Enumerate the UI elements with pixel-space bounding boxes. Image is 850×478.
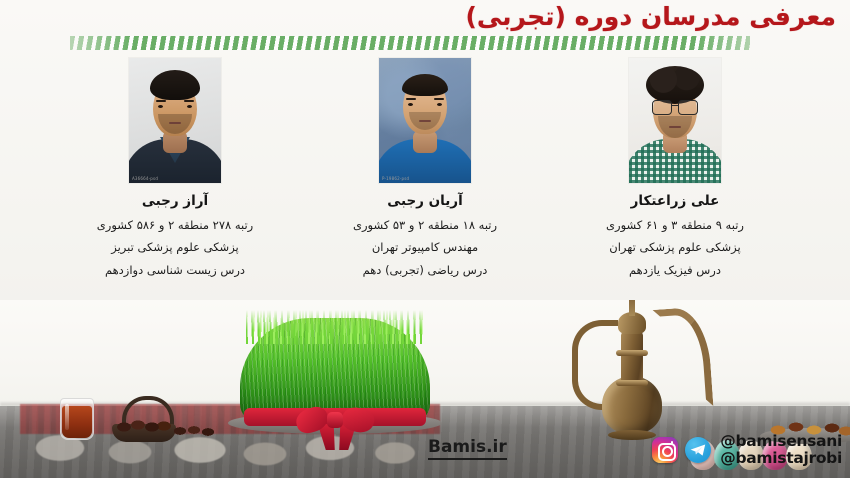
- dates-basket: [112, 396, 176, 442]
- instructor-rank: رتبه ۱۸ منطقه ۲ و ۵۳ کشوری: [353, 218, 497, 234]
- eyeglasses-icon: [652, 100, 698, 113]
- divider-fade-overlay: [70, 36, 750, 50]
- ribbon-bow: [296, 406, 374, 440]
- instructor-course: درس زیست شناسی دوازدهم: [105, 263, 245, 279]
- instructor-card-list: A36664-psd آراز رجبی رتبه ۲۷۸ منطقه ۲ و …: [0, 58, 850, 298]
- instructor-card[interactable]: علی زراعتکار رتبه ۹ منطقه ۳ و ۶۱ کشوری پ…: [582, 58, 768, 278]
- instructor-card[interactable]: A36664-psd آراز رجبی رتبه ۲۷۸ منطقه ۲ و …: [82, 58, 268, 278]
- brass-ewer: [582, 300, 692, 434]
- instructor-field: مهندس کامپیوتر تهران: [372, 240, 478, 256]
- slide-canvas: معرفی مدرسان دوره (تجربی) A36664-psd: [0, 0, 850, 478]
- sabzeh-wheatgrass: [240, 318, 430, 436]
- website-link[interactable]: Bamis.ir: [428, 438, 507, 460]
- photo-watermark: P-19862-psd: [382, 176, 409, 181]
- instructor-photo: P-19862-psd: [379, 58, 471, 183]
- instructor-name: آریان رجبی: [387, 193, 462, 211]
- instructor-rank: رتبه ۲۷۸ منطقه ۲ و ۵۸۶ کشوری: [97, 218, 253, 234]
- instructor-name: علی زراعتکار: [631, 193, 720, 211]
- instagram-icon[interactable]: [652, 437, 678, 463]
- instructor-name: آراز رجبی: [142, 193, 208, 211]
- social-handles: @bamisensani @bamistajrobi: [720, 433, 842, 466]
- tea-glass: [60, 398, 94, 440]
- instagram-handle[interactable]: @bamisensani: [720, 433, 842, 449]
- telegram-handle[interactable]: @bamistajrobi: [720, 450, 842, 466]
- instructor-photo: A36664-psd: [129, 58, 221, 183]
- instructor-course: درس ریاضی (تجربی) دهم: [363, 263, 488, 279]
- instructor-card[interactable]: P-19862-psd آریان رجبی رتبه ۱۸ منطقه ۲ و…: [332, 58, 518, 278]
- page-title: معرفی مدرسان دوره (تجربی): [465, 2, 836, 31]
- social-links: @bamisensani @bamistajrobi: [652, 433, 842, 466]
- instructor-field: پزشکی علوم پزشکی تهران: [609, 240, 740, 256]
- instructor-field: پزشکی علوم پزشکی تبریز: [111, 240, 239, 256]
- scattered-dates: [172, 424, 218, 438]
- photo-watermark: A36664-psd: [132, 176, 158, 181]
- telegram-icon[interactable]: [685, 437, 711, 463]
- instructor-rank: رتبه ۹ منطقه ۳ و ۶۱ کشوری: [606, 218, 744, 234]
- paper-plane-glyph: [690, 444, 706, 456]
- instructor-photo: [629, 58, 721, 183]
- instructor-course: درس فیزیک یازدهم: [629, 263, 721, 279]
